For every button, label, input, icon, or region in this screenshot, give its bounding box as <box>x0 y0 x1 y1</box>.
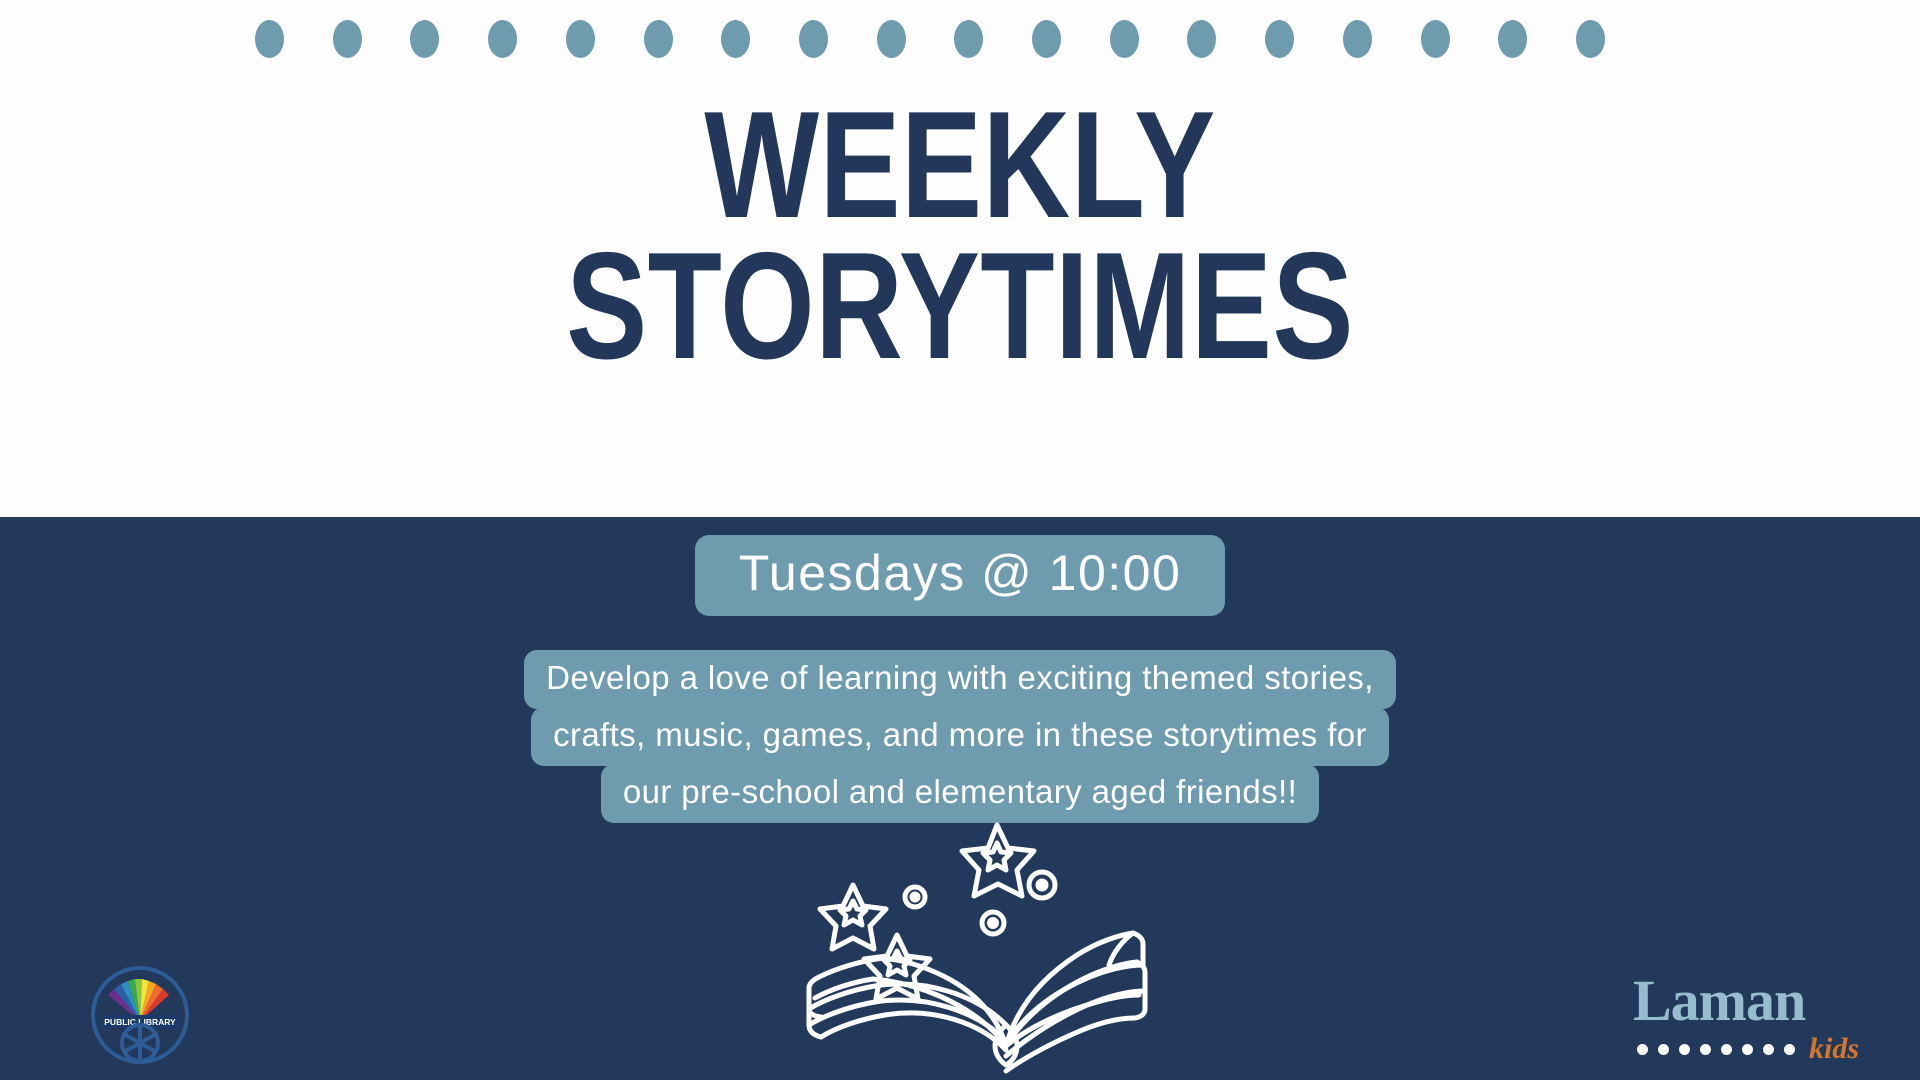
laman-dot-row <box>1633 1044 1795 1055</box>
dot-icon <box>1110 20 1139 58</box>
title-line-storytimes: STORYTIMES <box>192 236 1728 377</box>
public-library-logo: PUBLIC LIBRARY <box>88 963 192 1067</box>
dot-icon <box>1187 20 1216 58</box>
dot-icon <box>877 20 906 58</box>
schedule-time-badge: Tuesdays @ 10:00 <box>695 535 1226 616</box>
description-line: crafts, music, games, and more in these … <box>531 707 1389 766</box>
laman-kids-logo: Laman kids <box>1633 972 1848 1067</box>
dot-icon <box>1784 1044 1795 1055</box>
dot-icon <box>1421 20 1450 58</box>
laman-wordmark: Laman <box>1633 972 1848 1030</box>
decorative-dot-row <box>255 18 1605 60</box>
dot-icon <box>1637 1044 1648 1055</box>
top-white-section: WEEKLY STORYTIMES <box>0 0 1920 517</box>
dot-icon <box>1679 1044 1690 1055</box>
time-pill-container: Tuesdays @ 10:00 <box>0 535 1920 616</box>
laman-logo-bottom-row: kids <box>1633 1034 1848 1064</box>
dot-icon <box>1742 1044 1753 1055</box>
page-title: WEEKLY STORYTIMES <box>0 95 1920 378</box>
dot-icon <box>333 20 362 58</box>
title-line-weekly: WEEKLY <box>192 95 1728 236</box>
dot-icon <box>1576 20 1605 58</box>
dot-icon <box>566 20 595 58</box>
dot-icon <box>1032 20 1061 58</box>
dot-icon <box>644 20 673 58</box>
dot-icon <box>1700 1044 1711 1055</box>
dot-icon <box>721 20 750 58</box>
dot-icon <box>1265 20 1294 58</box>
dot-icon <box>799 20 828 58</box>
dot-icon <box>255 20 284 58</box>
poster-canvas: WEEKLY STORYTIMES Tuesdays @ 10:00 Devel… <box>0 0 1920 1080</box>
open-book-with-stars-icon <box>765 813 1155 1075</box>
laman-kids-sublabel: kids <box>1809 1034 1859 1064</box>
description-line: Develop a love of learning with exciting… <box>524 650 1396 709</box>
description-block: Develop a love of learning with exciting… <box>0 650 1920 821</box>
bottom-navy-section: Tuesdays @ 10:00 Develop a love of learn… <box>0 517 1920 1080</box>
dot-icon <box>1658 1044 1669 1055</box>
dot-icon <box>488 20 517 58</box>
dot-icon <box>410 20 439 58</box>
dot-icon <box>1498 20 1527 58</box>
dot-icon <box>954 20 983 58</box>
dot-icon <box>1343 20 1372 58</box>
dot-icon <box>1721 1044 1732 1055</box>
dot-icon <box>1763 1044 1774 1055</box>
